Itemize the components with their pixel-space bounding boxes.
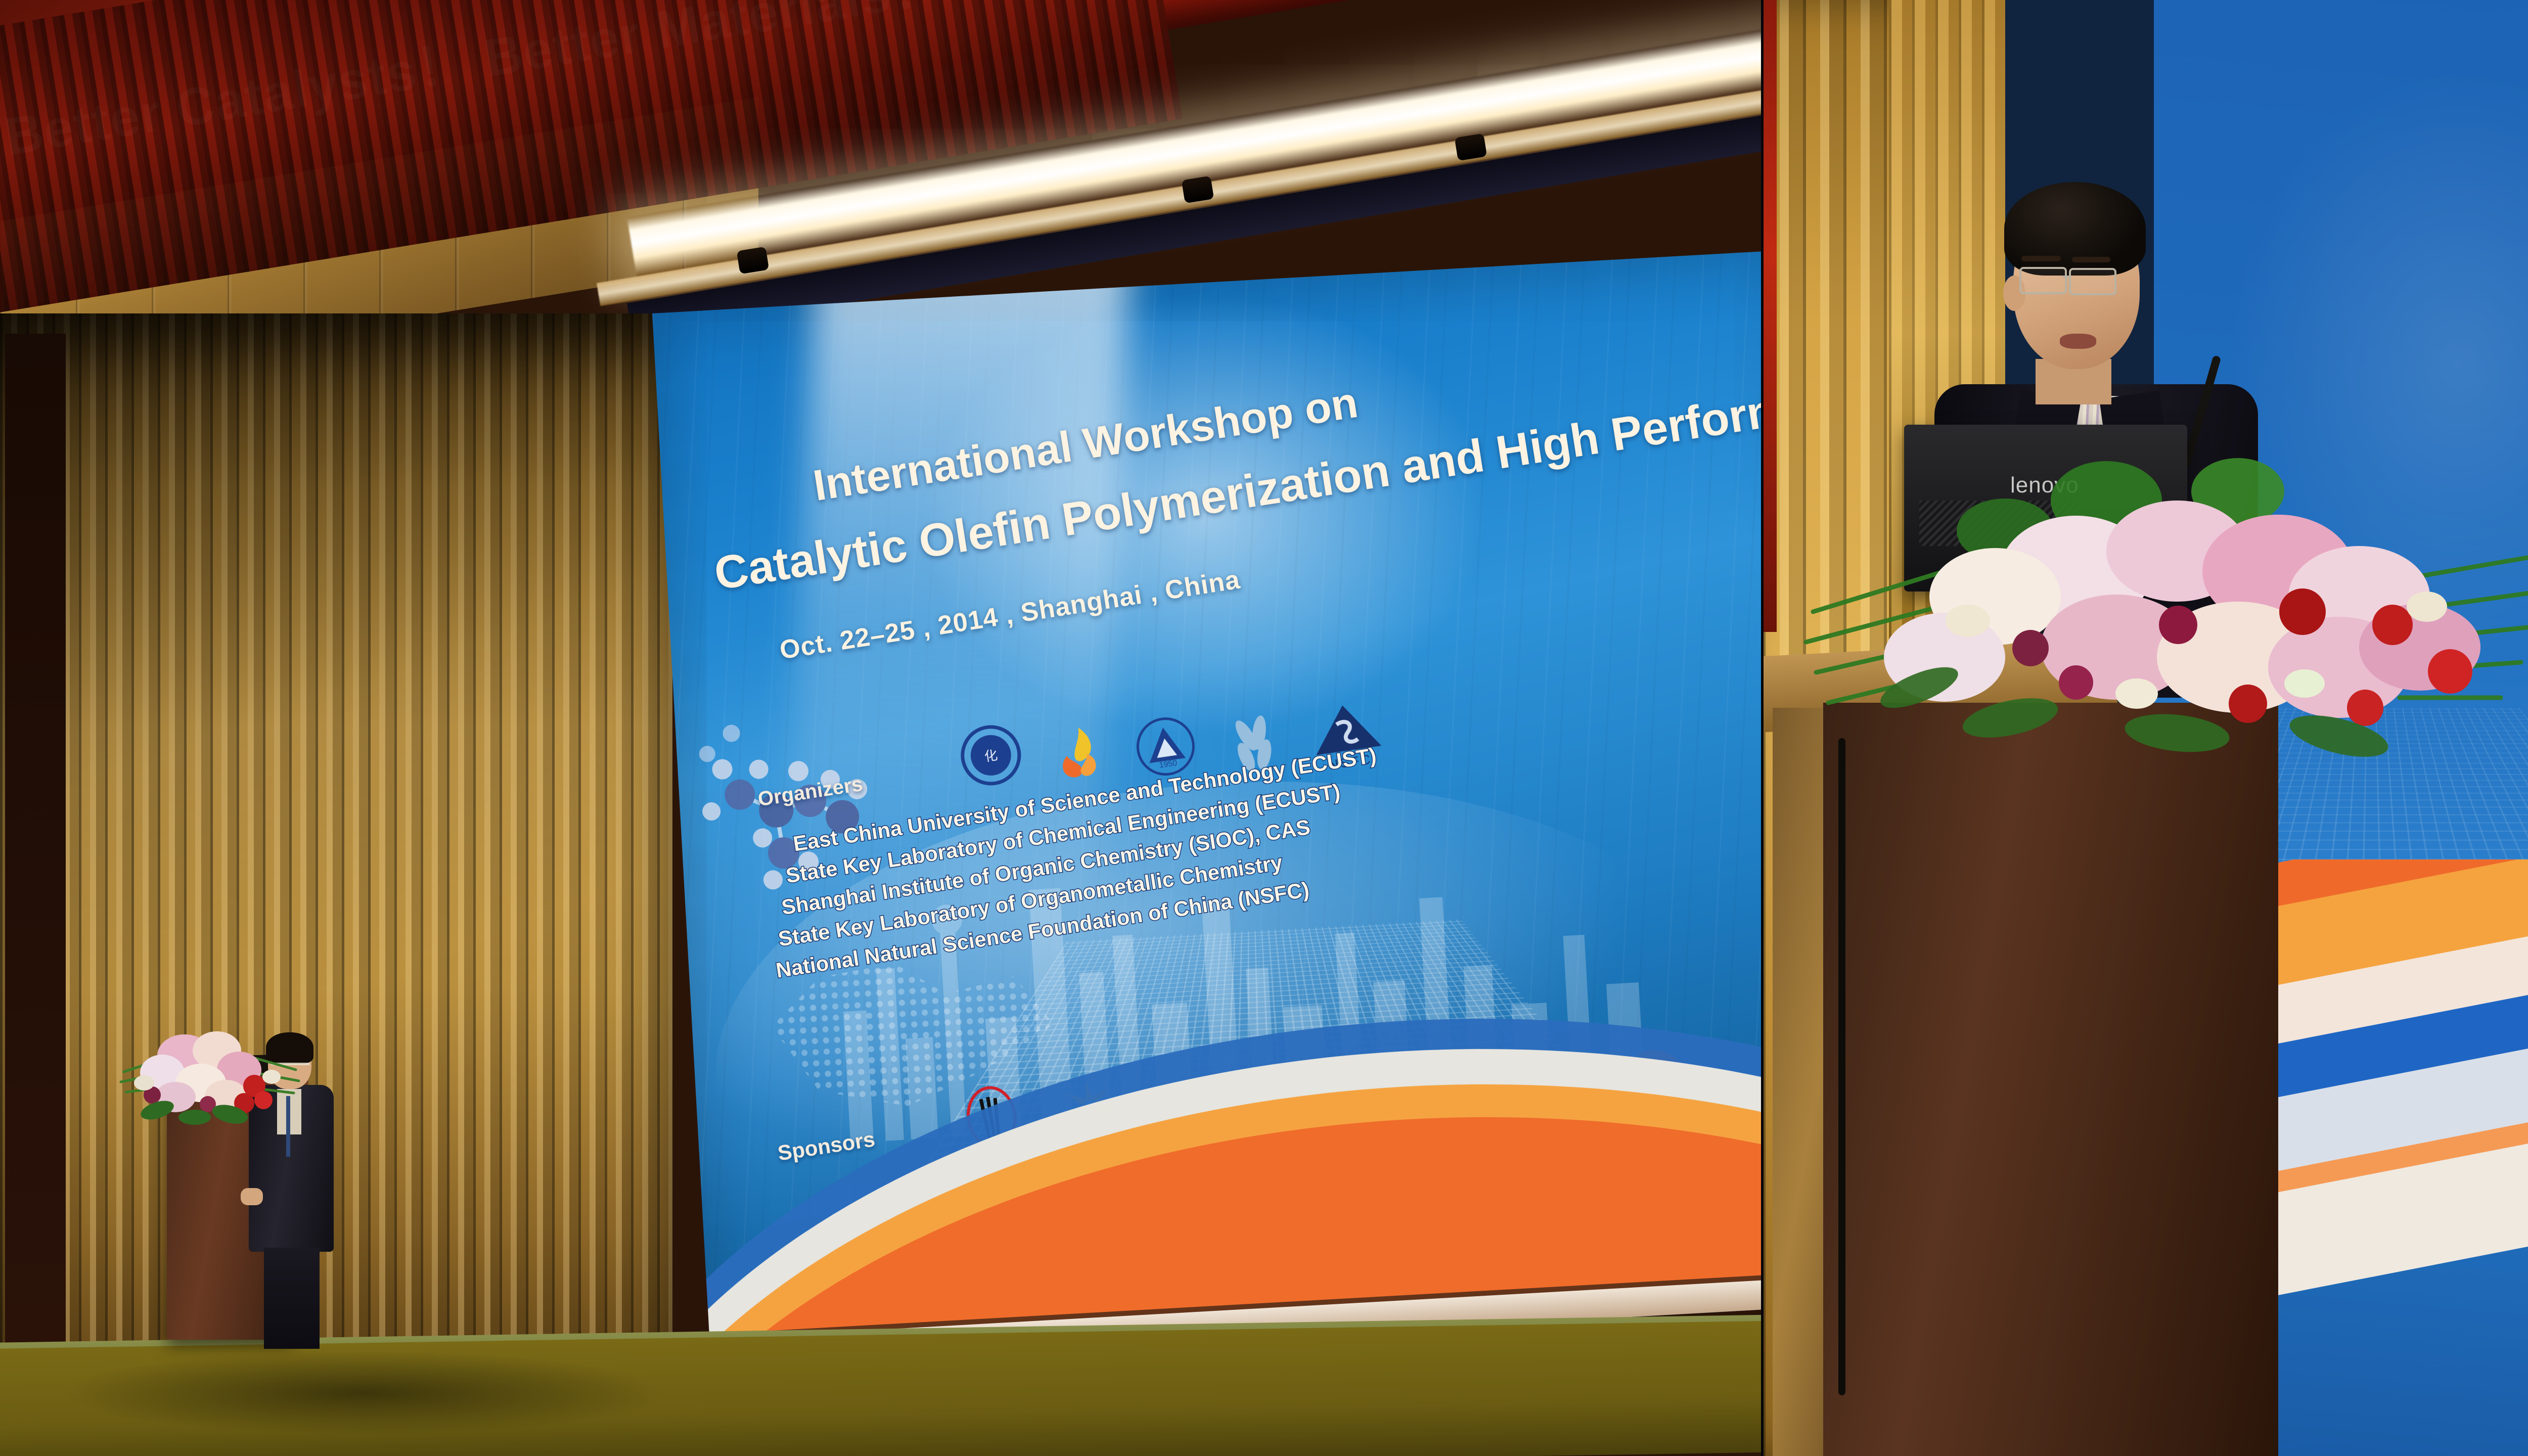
right-speaker-glasses-bridge: [2063, 276, 2070, 278]
conference-stage-photo: Better Catalysts！ Better Materials！ Bett…: [0, 0, 2528, 1456]
photo-seam-divider: [1761, 0, 1764, 1456]
right-podium-body: [1823, 703, 2278, 1456]
left-speaker-hand: [241, 1188, 263, 1205]
curtain-gap: [5, 334, 66, 1345]
ecust-seal-logo: 化: [957, 721, 1025, 790]
left-speaker-legs: [264, 1248, 320, 1349]
right-hall-scene: lenovo: [1763, 0, 2528, 1456]
flame-leaf-logo: [1043, 720, 1110, 788]
svg-text:化: 化: [983, 747, 999, 764]
left-podium-flower-arrangement: [109, 996, 311, 1132]
right-speaker-glasses-left: [2019, 267, 2067, 294]
stage-shadow: [61, 1350, 667, 1436]
svg-text:1950: 1950: [1159, 759, 1178, 770]
spotlight-icon: [1182, 176, 1214, 204]
left-hall-scene: Better Catalysts！ Better Materials！ Bett…: [0, 0, 1763, 1456]
right-speaker-eyebrow-left: [2021, 256, 2061, 261]
right-speaker-eyebrow-right: [2072, 257, 2110, 262]
right-speaker-glasses-right: [2069, 268, 2116, 295]
right-red-banner-edge: [1763, 0, 1777, 632]
right-podium-flower-arrangement: [1793, 445, 2528, 799]
microphone-cable: [1838, 738, 1845, 1395]
spotlight-icon: [1455, 133, 1487, 161]
conference-backdrop-banner: International Workshop on Catalytic Olef…: [652, 251, 1763, 1369]
right-speaker-mouth: [2060, 334, 2096, 349]
sioc-logo: 1950: [1131, 712, 1200, 781]
spotlight-icon: [737, 247, 769, 275]
